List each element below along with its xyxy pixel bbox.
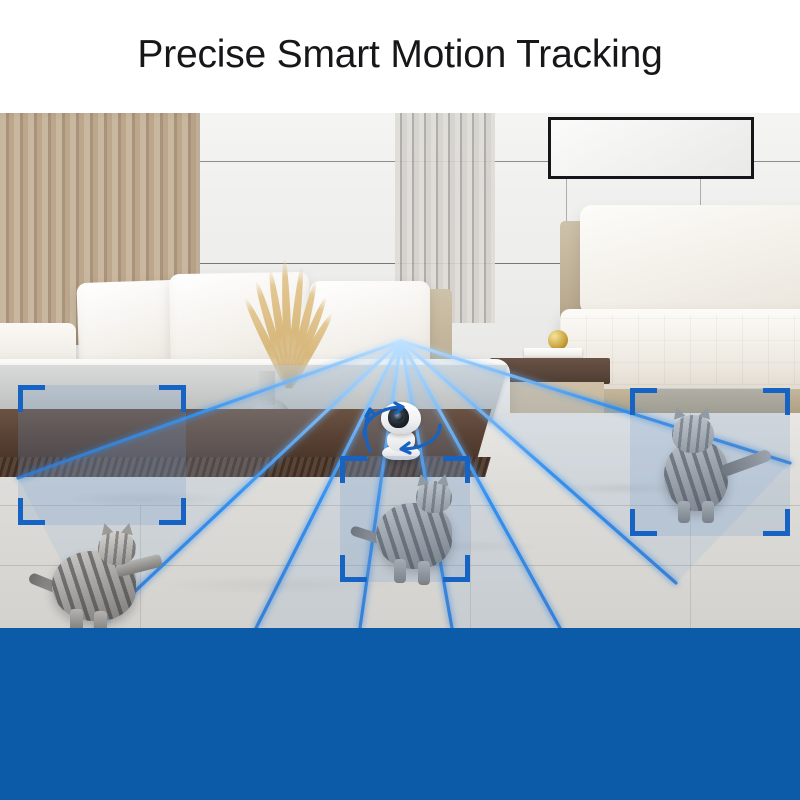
tapo-motion-tracking-poster: Precise Smart Motion Tracking <box>0 0 800 800</box>
bracket-bottom-right <box>763 509 790 536</box>
bracket-bottom-left <box>630 509 657 536</box>
page-title: Precise Smart Motion Tracking <box>137 35 662 78</box>
bracket-top-right <box>443 456 470 483</box>
caption-band: When motion activity is detected, tracks… <box>0 628 800 800</box>
cat-head <box>98 531 136 565</box>
tracking-box-cat-center <box>340 456 470 582</box>
bracket-bottom-left <box>340 555 367 582</box>
bracket-bottom-right <box>159 498 186 525</box>
bracket-bottom-left <box>18 498 45 525</box>
cat-leg <box>94 611 107 628</box>
tracking-box-cat-left <box>18 385 186 525</box>
bracket-top-left <box>630 388 657 415</box>
bracket-top-right <box>763 388 790 415</box>
bracket-top-right <box>159 385 186 412</box>
living-room-scene <box>0 113 800 628</box>
cat-left <box>46 525 176 628</box>
bracket-bottom-right <box>443 555 470 582</box>
bracket-top-left <box>340 456 367 483</box>
cat-leg <box>70 609 83 628</box>
tracking-box-cat-right <box>630 388 790 536</box>
headline-band: Precise Smart Motion Tracking <box>0 0 800 113</box>
bracket-top-left <box>18 385 45 412</box>
